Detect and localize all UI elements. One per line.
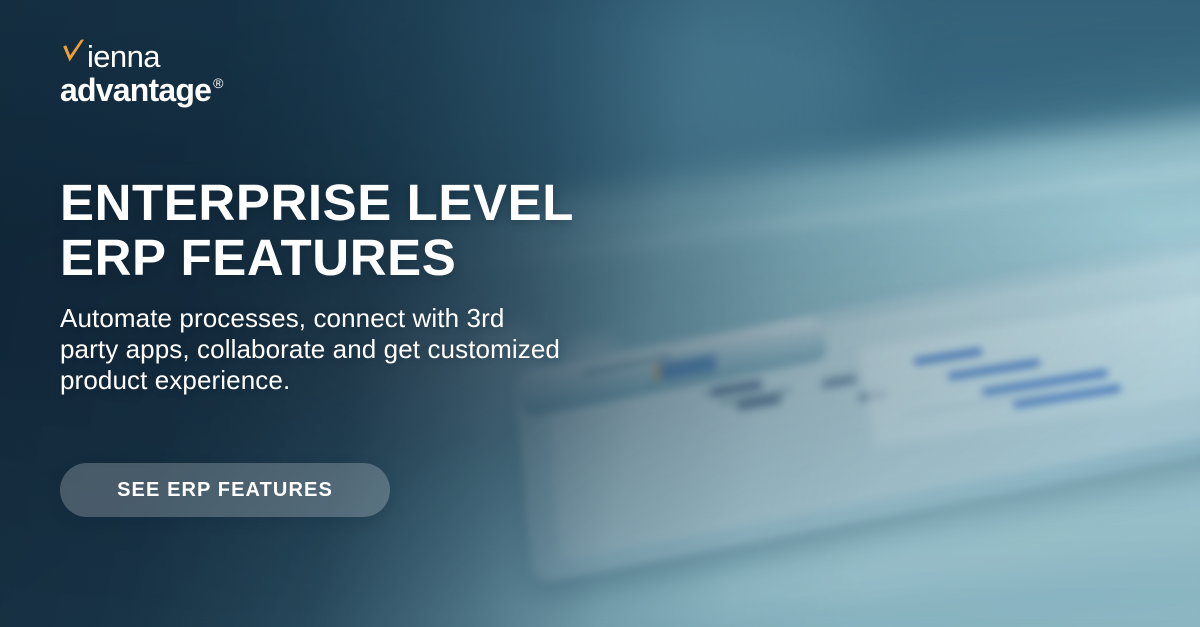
logo-text-advantage: advantage: [60, 73, 211, 107]
logo-line-vienna: ienna: [60, 42, 223, 72]
page-title: ENTERPRISE LEVEL ERP FEATURES: [60, 175, 660, 285]
content-column: ienna advantage ® ENTERPRISE LEVEL ERP F…: [60, 0, 700, 627]
see-erp-features-button[interactable]: SEE ERP FEATURES: [60, 463, 390, 517]
vienna-advantage-logo[interactable]: ienna advantage ®: [60, 42, 223, 107]
logo-line-advantage: advantage ®: [60, 73, 223, 107]
hero-banner: ienna advantage ® ENTERPRISE LEVEL ERP F…: [0, 0, 1200, 627]
registered-trademark-icon: ®: [213, 75, 223, 91]
subtitle-text: Automate processes, connect with 3rd par…: [60, 303, 560, 396]
logo-text-vienna: ienna: [87, 42, 160, 72]
orange-check-icon: [60, 37, 90, 72]
headline-line-1: ENTERPRISE LEVEL: [60, 175, 660, 230]
headline-line-2: ERP FEATURES: [60, 230, 660, 285]
